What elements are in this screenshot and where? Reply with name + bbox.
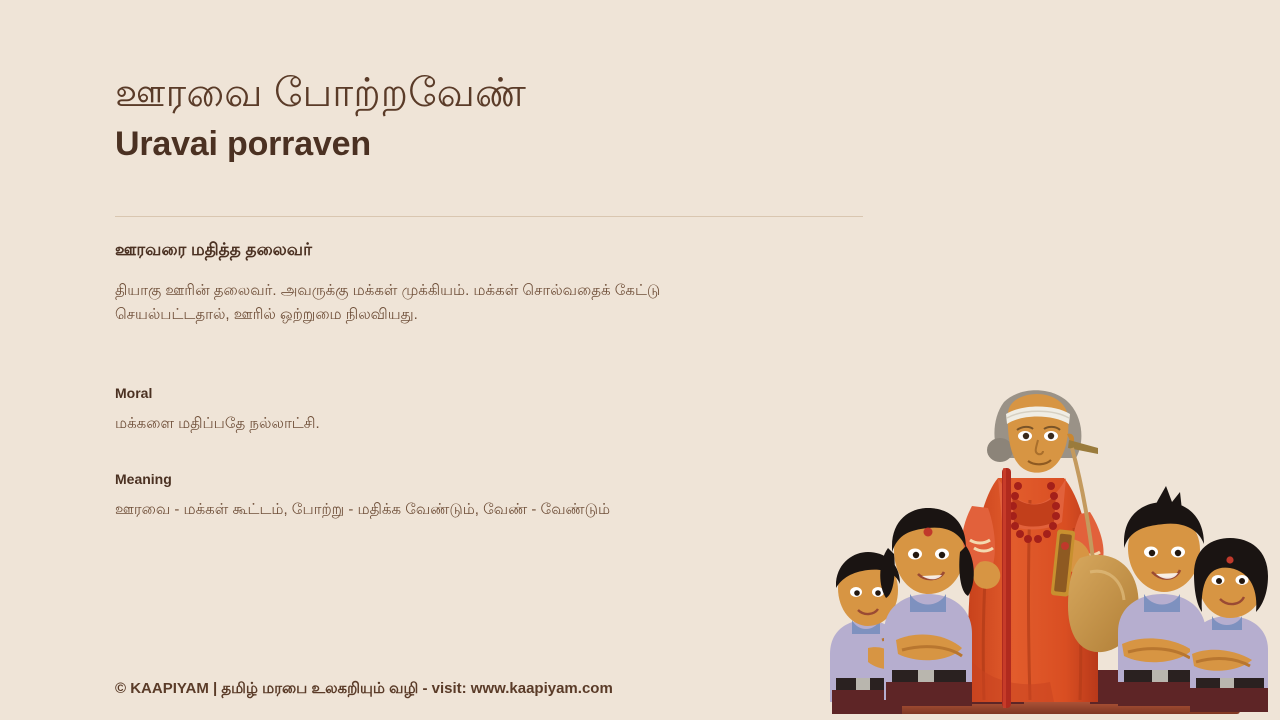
child-left-girl (880, 508, 974, 706)
moral-block: Moral மக்களை மதிப்பதே நல்லாட்சி. (115, 384, 815, 436)
child-right-boy (1118, 486, 1206, 706)
palm-leaf-book (1051, 529, 1076, 597)
shoulder-sack (1068, 555, 1139, 652)
bench-right-panel (1090, 670, 1208, 704)
bindi (1226, 556, 1233, 563)
meaning-label: Meaning (115, 470, 815, 488)
moral-label: Moral (115, 384, 815, 402)
story-block: ஊரவரை மதித்த தலைவர் தியாகு ஊரின் தலைவர்.… (115, 239, 815, 328)
child-far-left (830, 552, 906, 714)
story-body: தியாகு ஊரின் தலைவர். அவருக்கு மக்கள் முக… (115, 279, 763, 328)
footer-credit: © KAAPIYAM | தமிழ் மரபை உலகறியும் வழி - … (115, 678, 613, 699)
story-heading: ஊரவரை மதித்த தலைவர் (115, 239, 815, 261)
meaning-block: Meaning ஊரவை - மக்கள் கூட்டம், போற்று - … (115, 470, 815, 522)
child-far-right-girl (1190, 538, 1268, 712)
village-elder-with-children-illustration (822, 382, 1280, 720)
bindi (924, 528, 933, 537)
moral-text: மக்களை மதிப்பதே நல்லாட்சி. (115, 413, 815, 436)
bead-necklace (1009, 482, 1060, 543)
page-title-tamil: ஊரவை போற்றவேண் (115, 70, 875, 117)
header-block: ஊரவை போற்றவேண் Uravai porraven (115, 70, 875, 166)
page-title-transliteration: Uravai porraven (115, 123, 875, 166)
bench-left-panel (914, 670, 1024, 704)
meaning-text: ஊரவை - மக்கள் கூட்டம், போற்று - மதிக்க வ… (115, 499, 815, 522)
walking-staff (1002, 468, 1011, 708)
header-divider (115, 216, 863, 217)
elder-figure (962, 390, 1139, 708)
elder-head (987, 390, 1098, 472)
bench-base (862, 700, 1240, 714)
slide-canvas: ஊரவை போற்றவேண் Uravai porraven ஊரவரை மதி… (0, 0, 1280, 720)
